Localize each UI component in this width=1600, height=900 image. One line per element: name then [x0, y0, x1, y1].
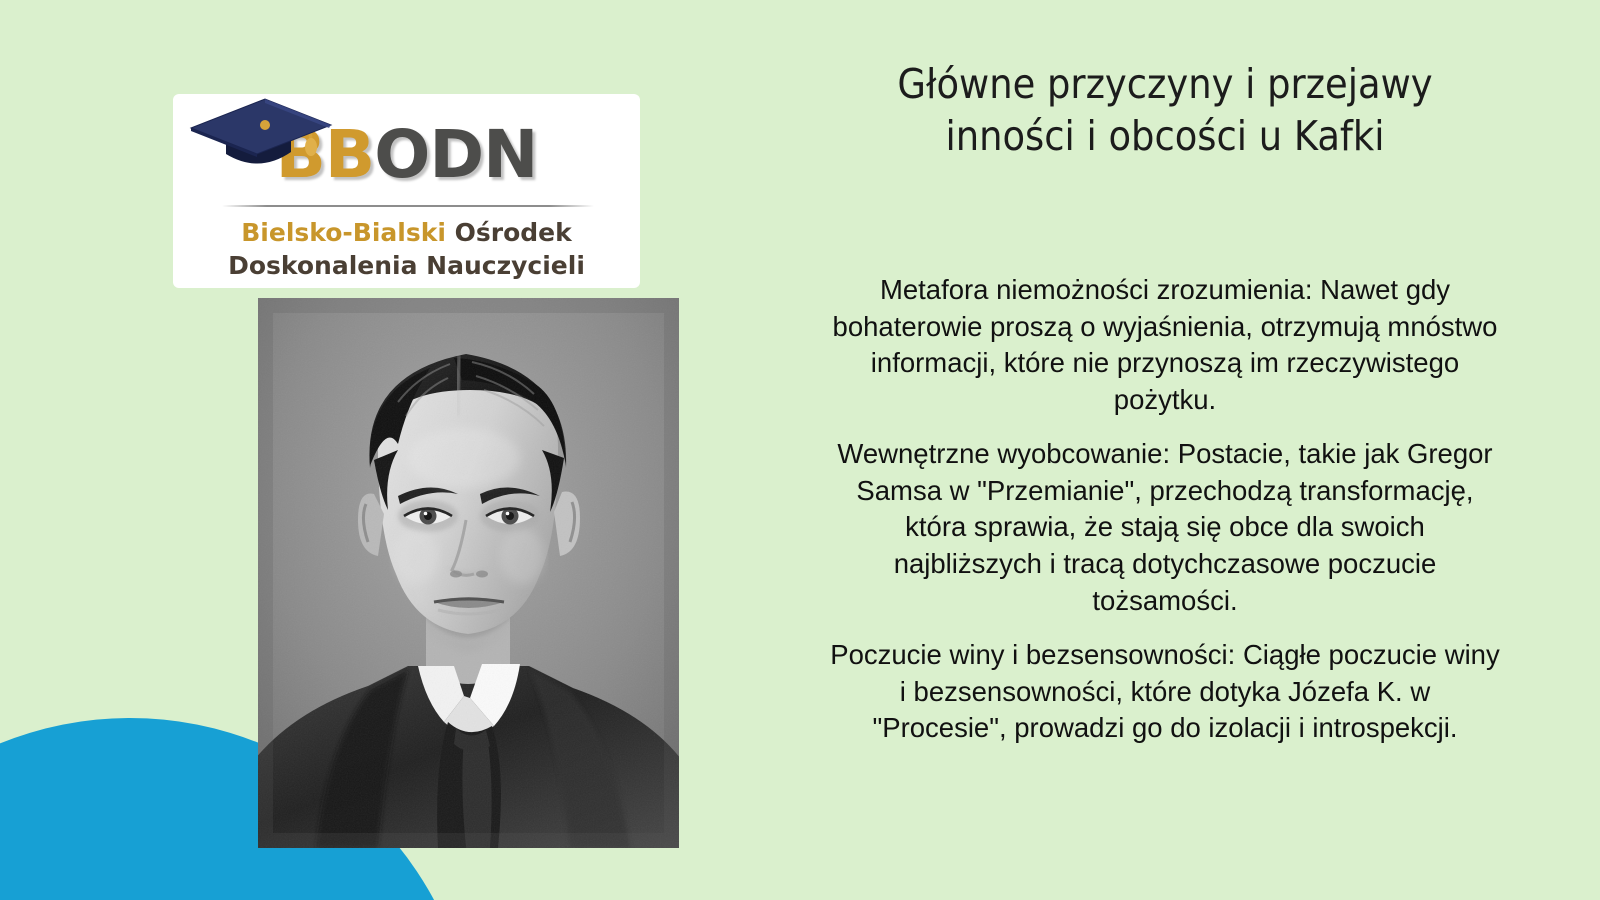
logo-subtitle-line1: Bielsko-Bialski Ośrodek	[173, 216, 640, 249]
body-paragraph-3: Poczucie winy i bezsensowności: Ciągłe p…	[830, 637, 1500, 747]
bbodn-logo-card: BBODN Bielsko-Bialski Ośrodek Doskonalen…	[173, 94, 640, 288]
logo-subtitle: Bielsko-Bialski Ośrodek Doskonalenia Nau…	[173, 216, 640, 282]
right-text-column: Główne przyczyny i przejawy inności i ob…	[820, 0, 1510, 900]
logo-wordmark-odn: ODN	[374, 116, 537, 193]
graduation-cap-icon	[181, 94, 341, 180]
logo-subtitle-line2: Doskonalenia Nauczycieli	[173, 249, 640, 282]
logo-subtitle-word-osrodek: Ośrodek	[455, 218, 572, 247]
slide-body-text: Metafora niemożności zrozumienia: Nawet …	[830, 272, 1500, 747]
body-paragraph-1: Metafora niemożności zrozumienia: Nawet …	[830, 272, 1500, 418]
slide-title: Główne przyczyny i przejawy inności i ob…	[820, 58, 1510, 162]
slide-title-line2: inności i obcości u Kafki	[820, 110, 1510, 162]
body-paragraph-2: Wewnętrzne wyobcowanie: Postacie, takie …	[830, 436, 1500, 619]
logo-divider-line	[222, 205, 594, 207]
presentation-slide: BBODN Bielsko-Bialski Ośrodek Doskonalen…	[0, 0, 1600, 900]
kafka-portrait-photo	[258, 298, 679, 848]
logo-subtitle-city: Bielsko-Bialski	[241, 218, 454, 247]
slide-title-line1: Główne przyczyny i przejawy	[820, 58, 1510, 110]
